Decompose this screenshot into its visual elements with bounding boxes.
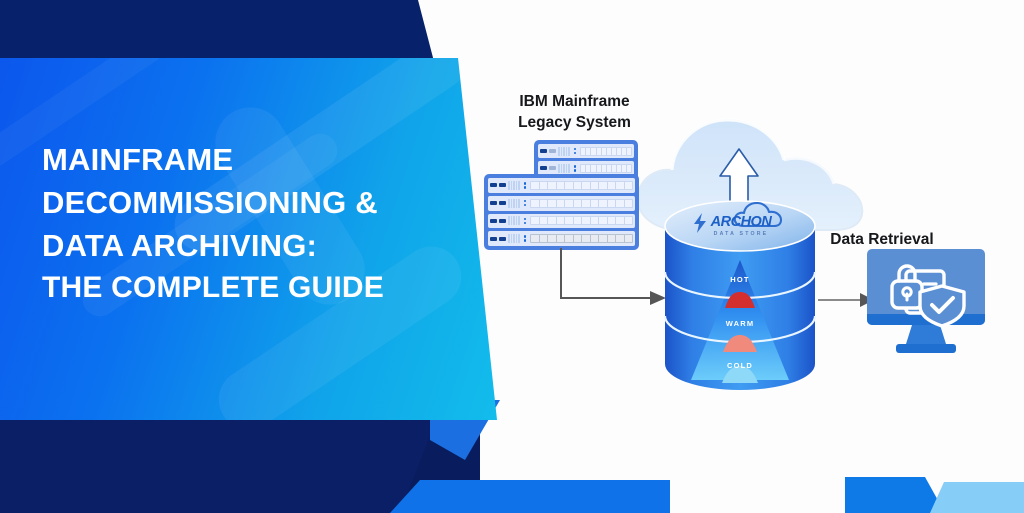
rack-drive-bay xyxy=(530,234,633,243)
rack-drive-bay xyxy=(580,164,632,173)
rack-slots xyxy=(508,199,520,208)
rack-unit xyxy=(488,178,635,193)
rack-led xyxy=(549,166,556,170)
archon-logo-subtitle: DATA STORE xyxy=(692,231,790,237)
title-line-1: MAINFRAME xyxy=(42,138,462,181)
mainframe-label: IBM Mainframe Legacy System xyxy=(512,92,637,133)
bottom-right-bar-light xyxy=(930,482,1024,513)
shield-check-icon xyxy=(920,286,964,326)
rack-status-dots xyxy=(522,218,528,224)
rack-led xyxy=(490,183,497,187)
rack-unit xyxy=(488,231,635,246)
rack-unit xyxy=(488,196,635,211)
rack-drive-bay xyxy=(530,181,633,190)
rack-drive-bay xyxy=(580,147,632,156)
server-to-datastore-connector xyxy=(556,248,668,310)
title-line-2: DECOMMISSIONING & xyxy=(42,181,462,224)
monitor-icon xyxy=(866,248,986,360)
rack-status-dots xyxy=(572,165,578,171)
mainframe-label-line-1: IBM Mainframe xyxy=(519,93,629,110)
bottom-bar-dark xyxy=(390,480,670,513)
rack-slots xyxy=(558,164,570,173)
title-line-3: DATA ARCHIVING: xyxy=(42,224,462,267)
banner-canvas: MAINFRAME DECOMMISSIONING & DATA ARCHIVI… xyxy=(0,0,1024,513)
rack-led xyxy=(499,201,506,205)
rack-led xyxy=(499,237,506,241)
rack-slots xyxy=(508,181,520,190)
rack-unit xyxy=(538,144,634,158)
rack-status-dots xyxy=(522,182,528,188)
rack-drive-bay xyxy=(530,216,633,225)
archon-logo-text: ARCHON xyxy=(692,214,790,230)
rack-drive-bay xyxy=(530,199,633,208)
rack-led xyxy=(540,149,547,153)
rack-led xyxy=(499,219,506,223)
rack-led xyxy=(490,201,497,205)
rack-led xyxy=(490,237,497,241)
tier-label-hot: HOT xyxy=(663,275,817,284)
rack-led xyxy=(540,166,547,170)
rack-led xyxy=(490,219,497,223)
rack-status-dots xyxy=(522,235,528,241)
rack-unit xyxy=(488,214,635,229)
rack-led xyxy=(499,183,506,187)
tier-label-cold: COLD xyxy=(663,361,817,370)
rack-slots xyxy=(508,234,520,243)
rack-slots xyxy=(558,147,570,156)
bottom-right-bar-blue xyxy=(845,477,945,513)
title-line-4: THE COMPLETE GUIDE xyxy=(42,267,462,309)
rack-led xyxy=(549,149,556,153)
server-rack-front xyxy=(484,174,639,250)
rack-slots xyxy=(508,216,520,225)
archon-logo: ARCHON DATA STORE xyxy=(692,206,790,248)
rack-status-dots xyxy=(522,200,528,206)
mainframe-label-line-2: Legacy System xyxy=(518,114,631,131)
page-title: MAINFRAME DECOMMISSIONING & DATA ARCHIVI… xyxy=(42,138,462,309)
tier-label-warm: WARM xyxy=(663,319,817,328)
rack-status-dots xyxy=(572,148,578,154)
